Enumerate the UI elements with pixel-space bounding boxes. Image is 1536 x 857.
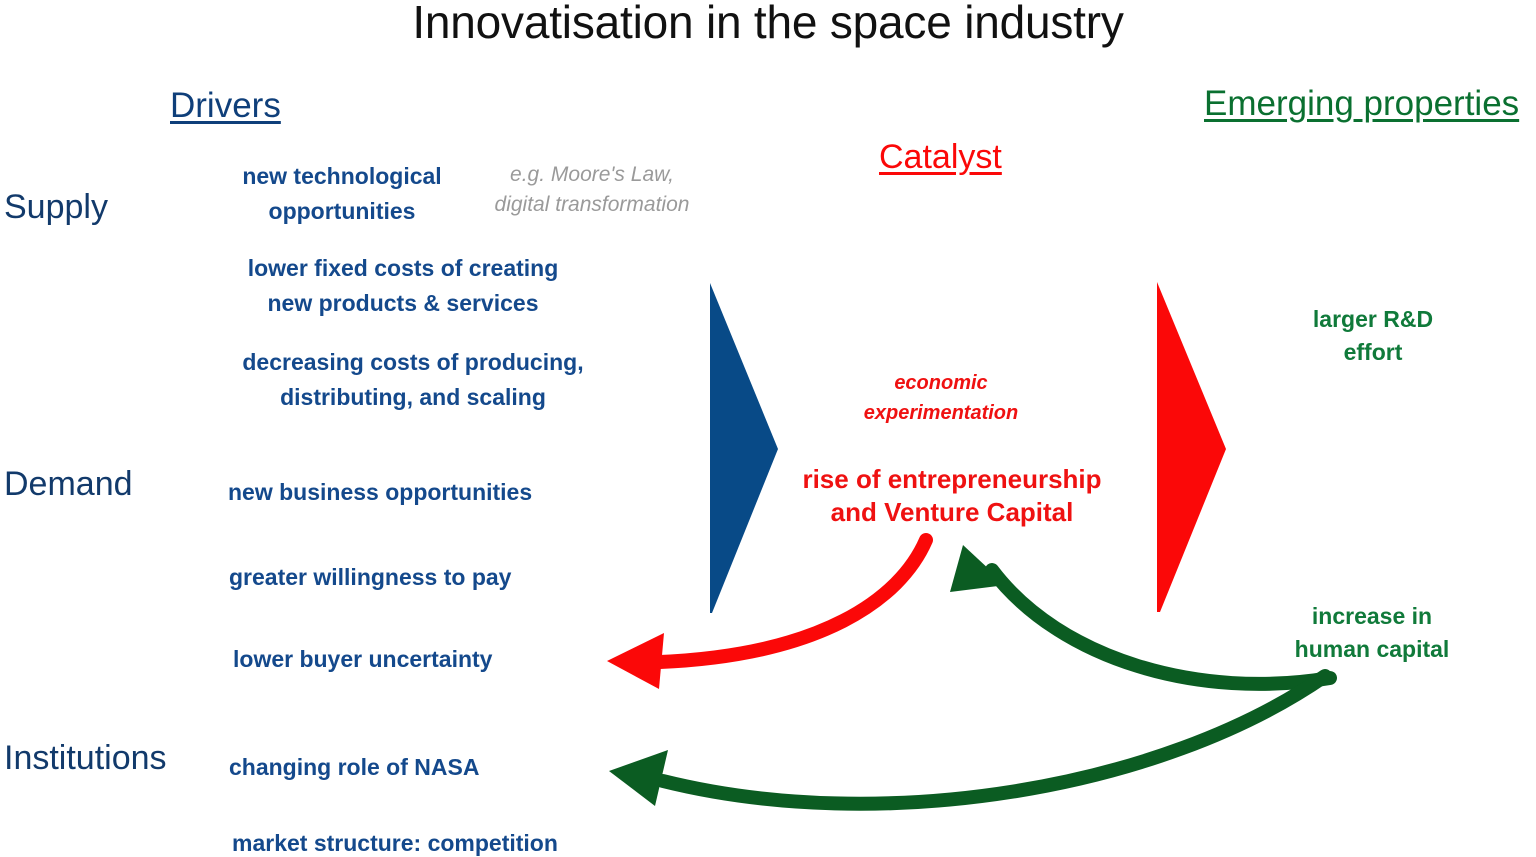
driver-line: distributing, and scaling <box>228 380 598 415</box>
driver-line: lower fixed costs of creating <box>229 251 577 286</box>
example-note: e.g. Moore's Law, digital transformation <box>482 160 702 221</box>
heading-emerging-properties: Emerging properties <box>1204 84 1519 124</box>
driver-item-demand-3: lower buyer uncertainty <box>233 642 492 677</box>
driver-item-supply-3: decreasing costs of producing, distribut… <box>228 345 598 414</box>
driver-item-institutions-1: changing role of NASA <box>229 750 479 785</box>
driver-line: new technological <box>228 159 456 194</box>
example-note-line: digital transformation <box>482 190 702 220</box>
catalyst-line: and Venture Capital <box>793 496 1111 529</box>
driver-line: decreasing costs of producing, <box>228 345 598 380</box>
catalyst-line: rise of entrepreneurship <box>793 463 1111 496</box>
emerging-line: increase in <box>1276 600 1468 633</box>
catalyst-economic-experimentation: economic experimentation <box>800 368 1082 428</box>
arrow-layer <box>0 0 1536 857</box>
slide-canvas: Innovatisation in the space industry Dri… <box>0 0 1536 857</box>
emerging-property-human-capital: increase in human capital <box>1276 600 1468 667</box>
driver-item-demand-2: greater willingness to pay <box>229 560 511 595</box>
red-feedback-arrow <box>607 540 926 689</box>
emerging-line: effort <box>1288 336 1458 369</box>
emerging-line: larger R&D <box>1288 303 1458 336</box>
driver-item-institutions-2: market structure: competition <box>232 826 558 857</box>
catalyst-line: experimentation <box>800 398 1082 428</box>
green-feedback-arrow-lower <box>609 676 1325 806</box>
driver-item-supply-2: lower fixed costs of creating new produc… <box>229 251 577 320</box>
driver-line: new products & services <box>229 286 577 321</box>
emerging-line: human capital <box>1276 633 1468 666</box>
row-label-institutions: Institutions <box>4 741 167 775</box>
green-feedback-arrow-upper <box>950 545 1330 684</box>
heading-drivers: Drivers <box>170 86 281 126</box>
example-note-line: e.g. Moore's Law, <box>482 160 702 190</box>
page-title: Innovatisation in the space industry <box>0 0 1536 46</box>
catalyst-rise-of-entrepreneurship: rise of entrepreneurship and Venture Cap… <box>793 463 1111 528</box>
driver-line: opportunities <box>228 194 456 229</box>
blue-chevron-arrow <box>710 283 778 613</box>
row-label-supply: Supply <box>4 190 108 224</box>
heading-catalyst: Catalyst <box>879 138 1002 177</box>
red-chevron-arrow <box>1157 282 1226 612</box>
emerging-property-rnd-effort: larger R&D effort <box>1288 303 1458 370</box>
catalyst-line: economic <box>800 368 1082 398</box>
row-label-demand: Demand <box>4 467 133 501</box>
driver-item-supply-1: new technological opportunities <box>228 159 456 228</box>
driver-item-demand-1: new business opportunities <box>228 475 532 510</box>
